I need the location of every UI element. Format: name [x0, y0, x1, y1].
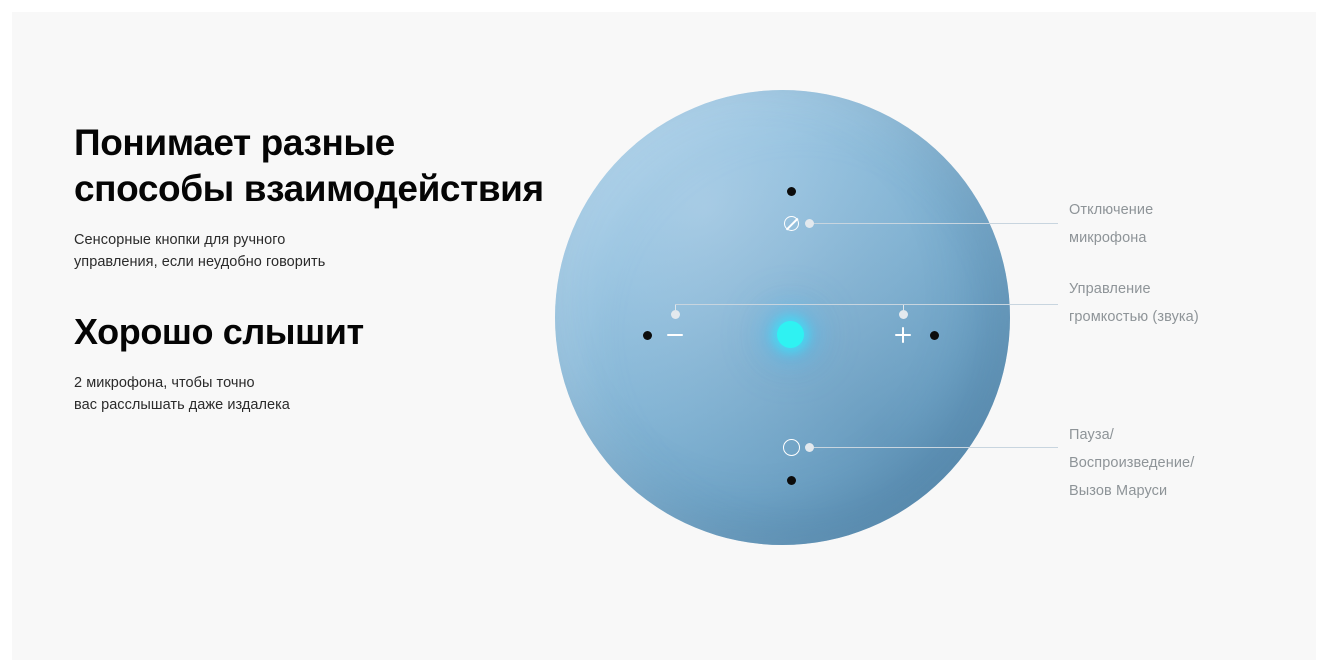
callout-play-pause: Пауза/ Воспроизведение/ Вызов Маруси: [1069, 421, 1194, 505]
interaction-subcopy: Сенсорные кнопки для ручного управления,…: [74, 229, 594, 273]
microphone-hole-left: [643, 331, 652, 340]
leader-dot-play-pause: [805, 443, 814, 452]
smart-speaker-sphere: [555, 90, 1010, 545]
callout-volume: Управление громкостью (звука): [1069, 275, 1199, 331]
leader-dot-mic-mute: [805, 219, 814, 228]
led-glow-icon: [777, 321, 804, 348]
hearing-subcopy: 2 микрофона, чтобы точно вас расслышать …: [74, 372, 554, 416]
sphere-shading-overlay: [555, 90, 1010, 545]
leader-line-play-pause: [814, 447, 1058, 448]
callout-mic-mute: Отключение микрофона: [1069, 196, 1153, 252]
minus-icon[interactable]: [667, 334, 683, 336]
leader-line-volume: [675, 304, 1058, 305]
interaction-headline: Понимает разные способы взаимодействия: [74, 120, 594, 212]
circle-icon[interactable]: [783, 439, 800, 456]
leader-line-mic-mute: [814, 223, 1058, 224]
feature-block-hearing: Хорошо слышит 2 микрофона, чтобы точно в…: [74, 310, 554, 416]
feature-slide: Понимает разные способы взаимодействия С…: [12, 12, 1316, 660]
microphone-hole-bottom: [787, 476, 796, 485]
leader-stub-volume-down: [675, 304, 676, 312]
leader-stub-volume-up: [903, 304, 904, 312]
plus-icon[interactable]: [895, 327, 911, 343]
microphone-hole-right: [930, 331, 939, 340]
hearing-headline: Хорошо слышит: [74, 310, 554, 354]
microphone-hole-top: [787, 187, 796, 196]
feature-block-interaction: Понимает разные способы взаимодействия С…: [74, 120, 594, 273]
mic-mute-icon[interactable]: [784, 216, 799, 231]
